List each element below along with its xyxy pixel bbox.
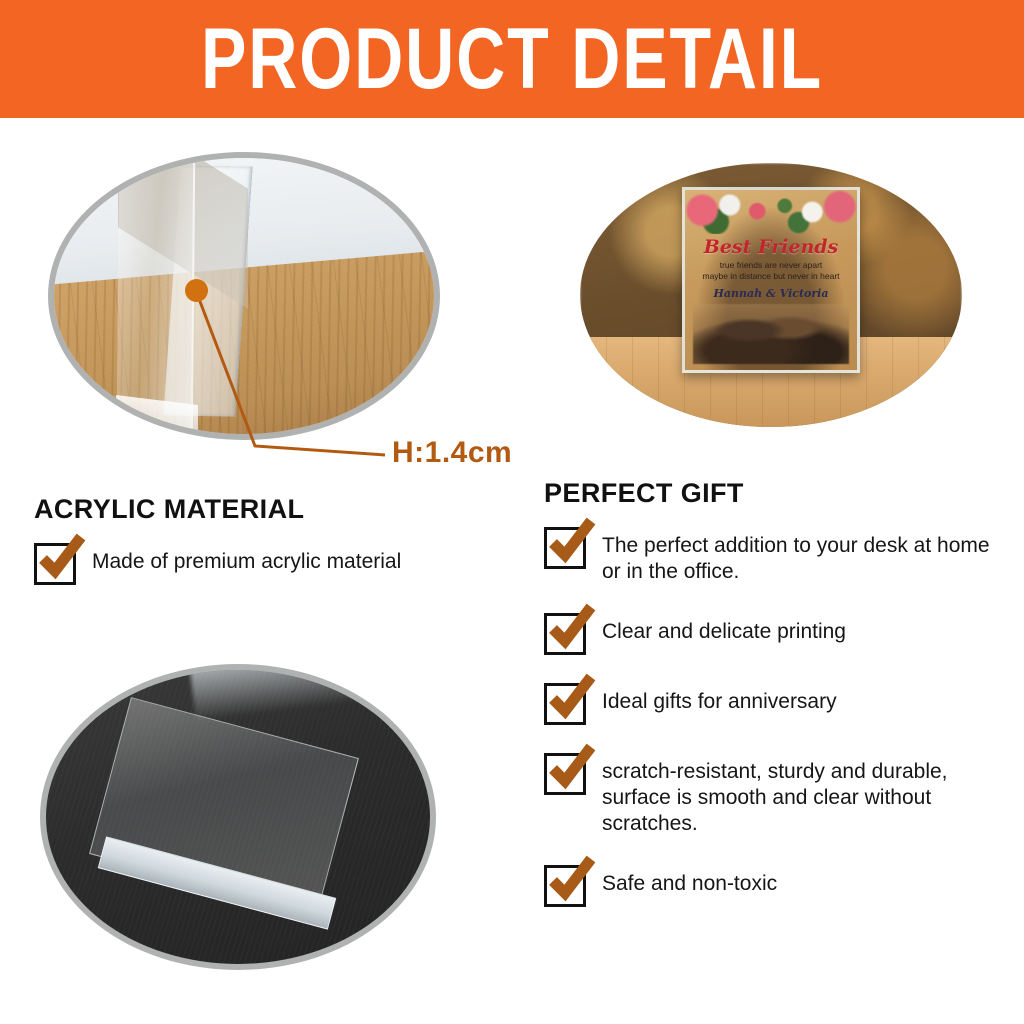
list-item: scratch-resistant, sturdy and durable, s…	[544, 751, 1000, 837]
floral-border-decoration	[685, 190, 857, 234]
section-title-perfect-gift: PERFECT GIFT	[544, 478, 1000, 509]
list-item-label: Made of premium acrylic material	[76, 541, 401, 575]
checkbox-checked-icon	[544, 683, 586, 725]
list-item: Made of premium acrylic material	[34, 541, 524, 585]
checkbox-checked-icon	[34, 543, 76, 585]
list-item: Safe and non-toxic	[544, 863, 1000, 907]
plaque-lifestyle-photo: Best Friends true friends are never apar…	[580, 163, 962, 427]
section-title-acrylic-material: ACRYLIC MATERIAL	[34, 494, 524, 525]
list-item: The perfect addition to your desk at hom…	[544, 525, 1000, 585]
list-item-label: scratch-resistant, sturdy and durable, s…	[586, 751, 1000, 837]
section-perfect-gift: PERFECT GIFT The perfect addition to you…	[544, 478, 1000, 933]
checkbox-checked-icon	[544, 527, 586, 569]
list-item-label: Clear and delicate printing	[586, 611, 846, 645]
list-item-label: The perfect addition to your desk at hom…	[586, 525, 1000, 585]
acrylic-plaque: Best Friends true friends are never apar…	[682, 187, 860, 373]
list-item-label: Safe and non-toxic	[586, 863, 777, 897]
product-detail-banner: PRODUCT DETAIL	[0, 0, 1024, 118]
plaque-title: Best Friends	[685, 236, 857, 258]
page-title: PRODUCT DETAIL	[201, 16, 823, 102]
plaque-portrait-photo	[693, 304, 849, 364]
plaque-quote-line-1: true friends are never apart	[691, 260, 851, 271]
checkbox-checked-icon	[544, 753, 586, 795]
background-highlight	[189, 664, 371, 722]
list-item: Ideal gifts for anniversary	[544, 681, 1000, 725]
plaque-quote-line-2: maybe in distance but never in heart	[691, 271, 851, 282]
height-callout-label: H:1.4cm	[392, 436, 512, 470]
acrylic-slab-front-face	[117, 153, 195, 433]
list-item: Clear and delicate printing	[544, 611, 1000, 655]
acrylic-edge-photo	[48, 152, 440, 440]
measurement-dot-icon	[185, 279, 208, 302]
checkbox-checked-icon	[544, 865, 586, 907]
checkbox-checked-icon	[544, 613, 586, 655]
plaque-names: Hannah & Victoria	[685, 287, 857, 300]
acrylic-block-photo	[40, 664, 436, 970]
list-item-label: Ideal gifts for anniversary	[586, 681, 837, 715]
section-acrylic-material: ACRYLIC MATERIAL Made of premium acrylic…	[34, 494, 524, 609]
